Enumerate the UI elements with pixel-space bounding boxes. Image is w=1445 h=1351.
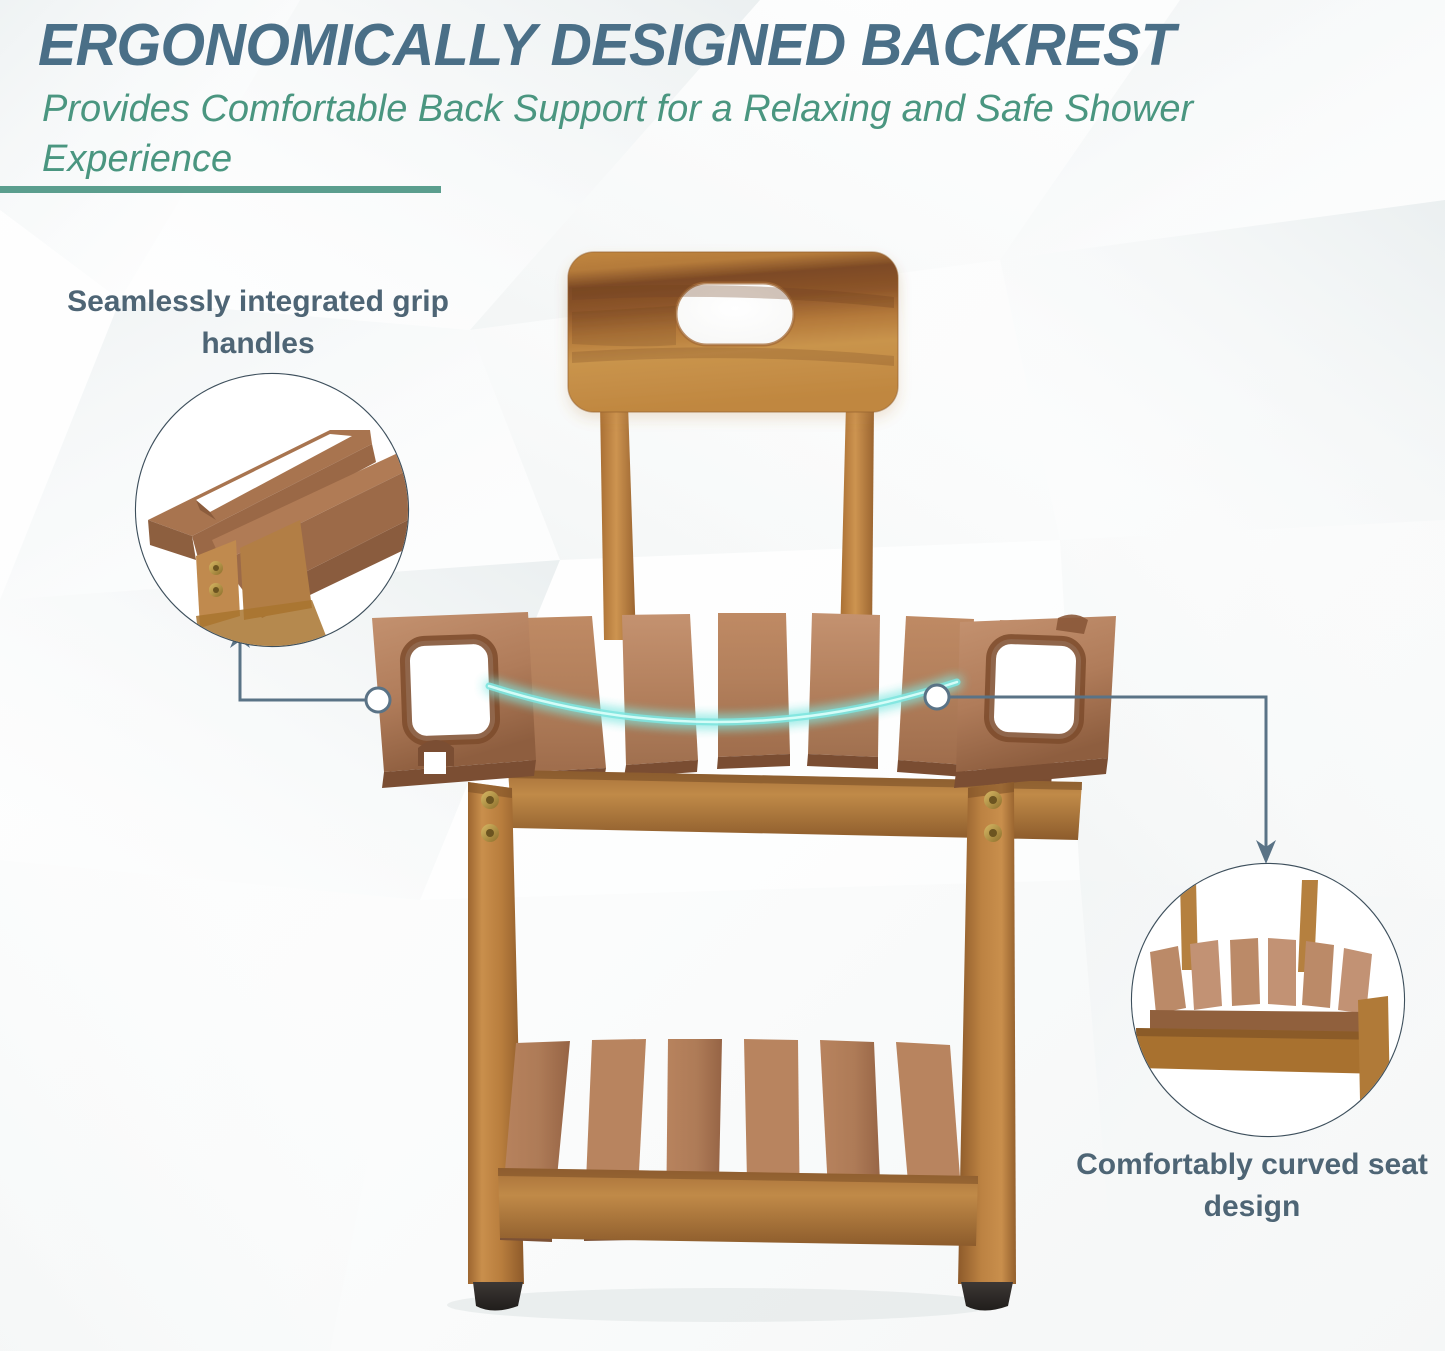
leader-marker-left [366,688,390,712]
rubber-foot-left [473,1282,523,1311]
detail-zoom-curved-seat [1132,864,1404,1136]
backrest-post-left [600,404,636,640]
left-handle-cutout [404,638,495,741]
ground-shadow [447,1288,997,1322]
seat-handle-panel-left[interactable] [372,612,536,788]
shower-bench [372,252,1116,1311]
detail-zoom-grip-handle [136,374,408,646]
callout-left [136,374,408,712]
product-feature-image: ERGONOMICALLY DESIGNED BACKREST Provides… [0,0,1445,1351]
product-illustration [0,0,1445,1351]
right-handle-cutout [988,638,1081,739]
leader-marker-right [925,685,949,709]
backrest-panel [568,252,898,412]
backrest-post-right [840,404,874,640]
seat-handle-panel-right[interactable] [954,614,1116,788]
rubber-foot-right [961,1282,1013,1311]
leader-line-left [240,640,372,700]
